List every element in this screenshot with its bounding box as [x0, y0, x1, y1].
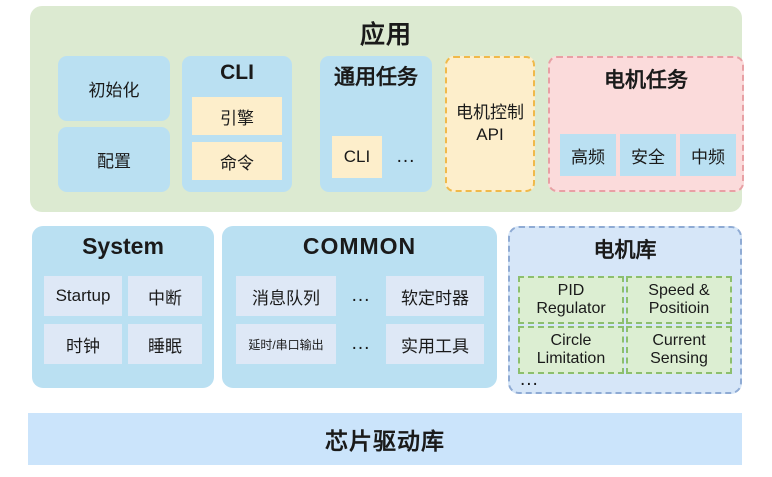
- pid-regulator-line2: Regulator: [536, 300, 605, 318]
- pid-regulator-line1: PID: [536, 282, 605, 300]
- system-cell-clock: 时钟: [44, 324, 122, 364]
- architecture-diagram: 应用 初始化 配置 CLI 引擎 命令 通用任务 CLI ... 电机控制 AP…: [0, 0, 772, 477]
- motor-library-more-ellipsis: ...: [520, 370, 539, 389]
- speed-position-line2: Positioin: [648, 300, 709, 318]
- system-cell-startup: Startup: [44, 276, 122, 316]
- group-motor-tasks-title: 电机任务: [550, 64, 742, 94]
- panel-common-title: COMMON: [222, 233, 497, 260]
- motor-control-api-line2: API: [456, 124, 524, 146]
- common-cell-ellipsis-2: ...: [340, 324, 382, 364]
- block-configuration: 配置: [58, 127, 170, 192]
- panel-motor-library: 电机库 PID Regulator Speed & Positioin Circ…: [508, 226, 742, 394]
- common-cell-ellipsis-1: ...: [340, 276, 382, 316]
- middleware-row: System Startup 中断 时钟 睡眠 COMMON 消息队列 ... …: [0, 226, 772, 396]
- block-initialization: 初始化: [58, 56, 170, 121]
- common-cell-utilities: 实用工具: [386, 324, 484, 364]
- group-common-tasks-title: 通用任务: [320, 61, 432, 91]
- cli-item-command: 命令: [192, 142, 282, 180]
- system-cell-sleep: 睡眠: [128, 324, 202, 364]
- application-layer: 应用 初始化 配置 CLI 引擎 命令 通用任务 CLI ... 电机控制 AP…: [30, 6, 742, 212]
- common-cell-delay-serial-output: 延时/串口输出: [236, 324, 336, 364]
- group-motor-tasks: 电机任务 高频 安全 中频: [548, 56, 744, 192]
- group-common-tasks: 通用任务 CLI ...: [320, 56, 432, 192]
- cli-item-engine: 引擎: [192, 97, 282, 135]
- group-cli: CLI 引擎 命令: [182, 56, 292, 192]
- motor-library-cell-circle-limitation: Circle Limitation: [518, 326, 624, 374]
- group-cli-title: CLI: [182, 61, 292, 85]
- motor-task-item-high-frequency: 高频: [560, 134, 616, 176]
- panel-common: COMMON 消息队列 ... 软定时器 延时/串口输出 ... 实用工具: [222, 226, 497, 388]
- motor-task-item-safety: 安全: [620, 134, 676, 176]
- motor-task-item-medium-frequency: 中频: [680, 134, 736, 176]
- circle-limitation-line2: Limitation: [537, 350, 605, 368]
- circle-limitation-line1: Circle: [537, 332, 605, 350]
- block-motor-control-api: 电机控制 API: [445, 56, 535, 192]
- system-cell-interrupt: 中断: [128, 276, 202, 316]
- common-task-item-cli: CLI: [332, 136, 382, 178]
- current-sensing-line1: Current: [650, 332, 708, 350]
- motor-library-cell-speed-position: Speed & Positioin: [626, 276, 732, 324]
- chip-driver-layer: 芯片驱动库: [28, 413, 742, 465]
- common-task-item-ellipsis: ...: [386, 136, 426, 178]
- panel-system-title: System: [32, 233, 214, 260]
- application-layer-title: 应用: [30, 15, 742, 51]
- panel-system: System Startup 中断 时钟 睡眠: [32, 226, 214, 388]
- speed-position-line1: Speed &: [648, 282, 709, 300]
- common-cell-soft-timer: 软定时器: [386, 276, 484, 316]
- motor-library-cell-current-sensing: Current Sensing: [626, 326, 732, 374]
- current-sensing-line2: Sensing: [650, 350, 708, 368]
- common-cell-message-queue: 消息队列: [236, 276, 336, 316]
- motor-control-api-line1: 电机控制: [456, 102, 524, 124]
- motor-library-cell-pid-regulator: PID Regulator: [518, 276, 624, 324]
- panel-motor-library-title: 电机库: [510, 234, 740, 264]
